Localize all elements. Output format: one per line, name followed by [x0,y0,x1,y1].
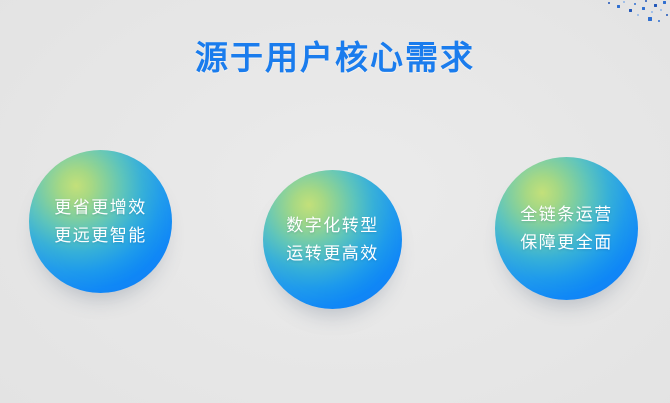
decorative-dot-12-icon [658,20,660,22]
bubble-3-line-1: 全链条运营 [520,201,613,229]
decorative-dot-14-icon [663,1,666,4]
decorative-dot-6-icon [637,14,639,16]
decorative-dot-10-icon [651,11,653,13]
decorative-dot-1-icon [608,2,610,4]
page-title: 源于用户核心需求 [0,38,670,78]
decorative-dot-11-icon [654,4,657,7]
decorative-dot-3-icon [623,1,625,3]
decorative-dot-5-icon [634,3,636,5]
slide-canvas: 源于用户核心需求 更省更增效 更远更智能 数字化转型 运转更高效 全链条运营 保… [0,0,670,403]
decorative-dot-13-icon [660,9,662,11]
bubble-1-line-2: 更远更智能 [54,222,147,250]
bubble-2-line-2: 运转更高效 [286,240,379,268]
feature-bubble-3[interactable]: 全链条运营 保障更全面 [495,157,638,300]
feature-bubble-2[interactable]: 数字化转型 运转更高效 [263,170,402,309]
decorative-dot-2-icon [617,5,620,8]
bubble-2-line-1: 数字化转型 [286,212,379,240]
decorative-dot-9-icon [648,17,652,21]
decorative-dot-15-icon [666,14,668,16]
decorative-dot-8-icon [645,0,647,2]
bubble-1-line-1: 更省更增效 [54,194,147,222]
decorative-dot-4-icon [629,9,632,12]
decorative-dot-7-icon [642,7,645,10]
bubble-3-line-2: 保障更全面 [520,229,613,257]
feature-bubble-1[interactable]: 更省更增效 更远更智能 [29,150,172,293]
decorative-dot-cluster-icon [590,0,670,34]
